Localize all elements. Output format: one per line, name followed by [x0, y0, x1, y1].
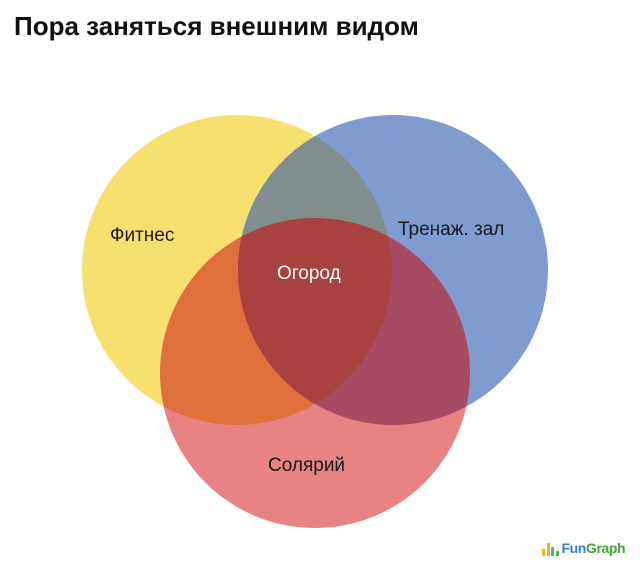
watermark-label: FunGraph: [562, 541, 626, 556]
venn-label-center-intersection: Огород: [277, 263, 341, 285]
fungraph-watermark[interactable]: FunGraph: [542, 536, 625, 556]
venn-label-fitnes: Фитнес: [110, 225, 174, 247]
watermark-fun-text: Fun: [562, 540, 586, 556]
watermark-graph-text: Graph: [586, 540, 625, 556]
venn-label-gym: Тренаж. зал: [398, 219, 504, 241]
bar-chart-icon: [542, 542, 559, 556]
venn-diagram-page: Пора заняться внешним видом: [0, 0, 640, 565]
venn-label-solarium: Солярий: [268, 455, 345, 477]
